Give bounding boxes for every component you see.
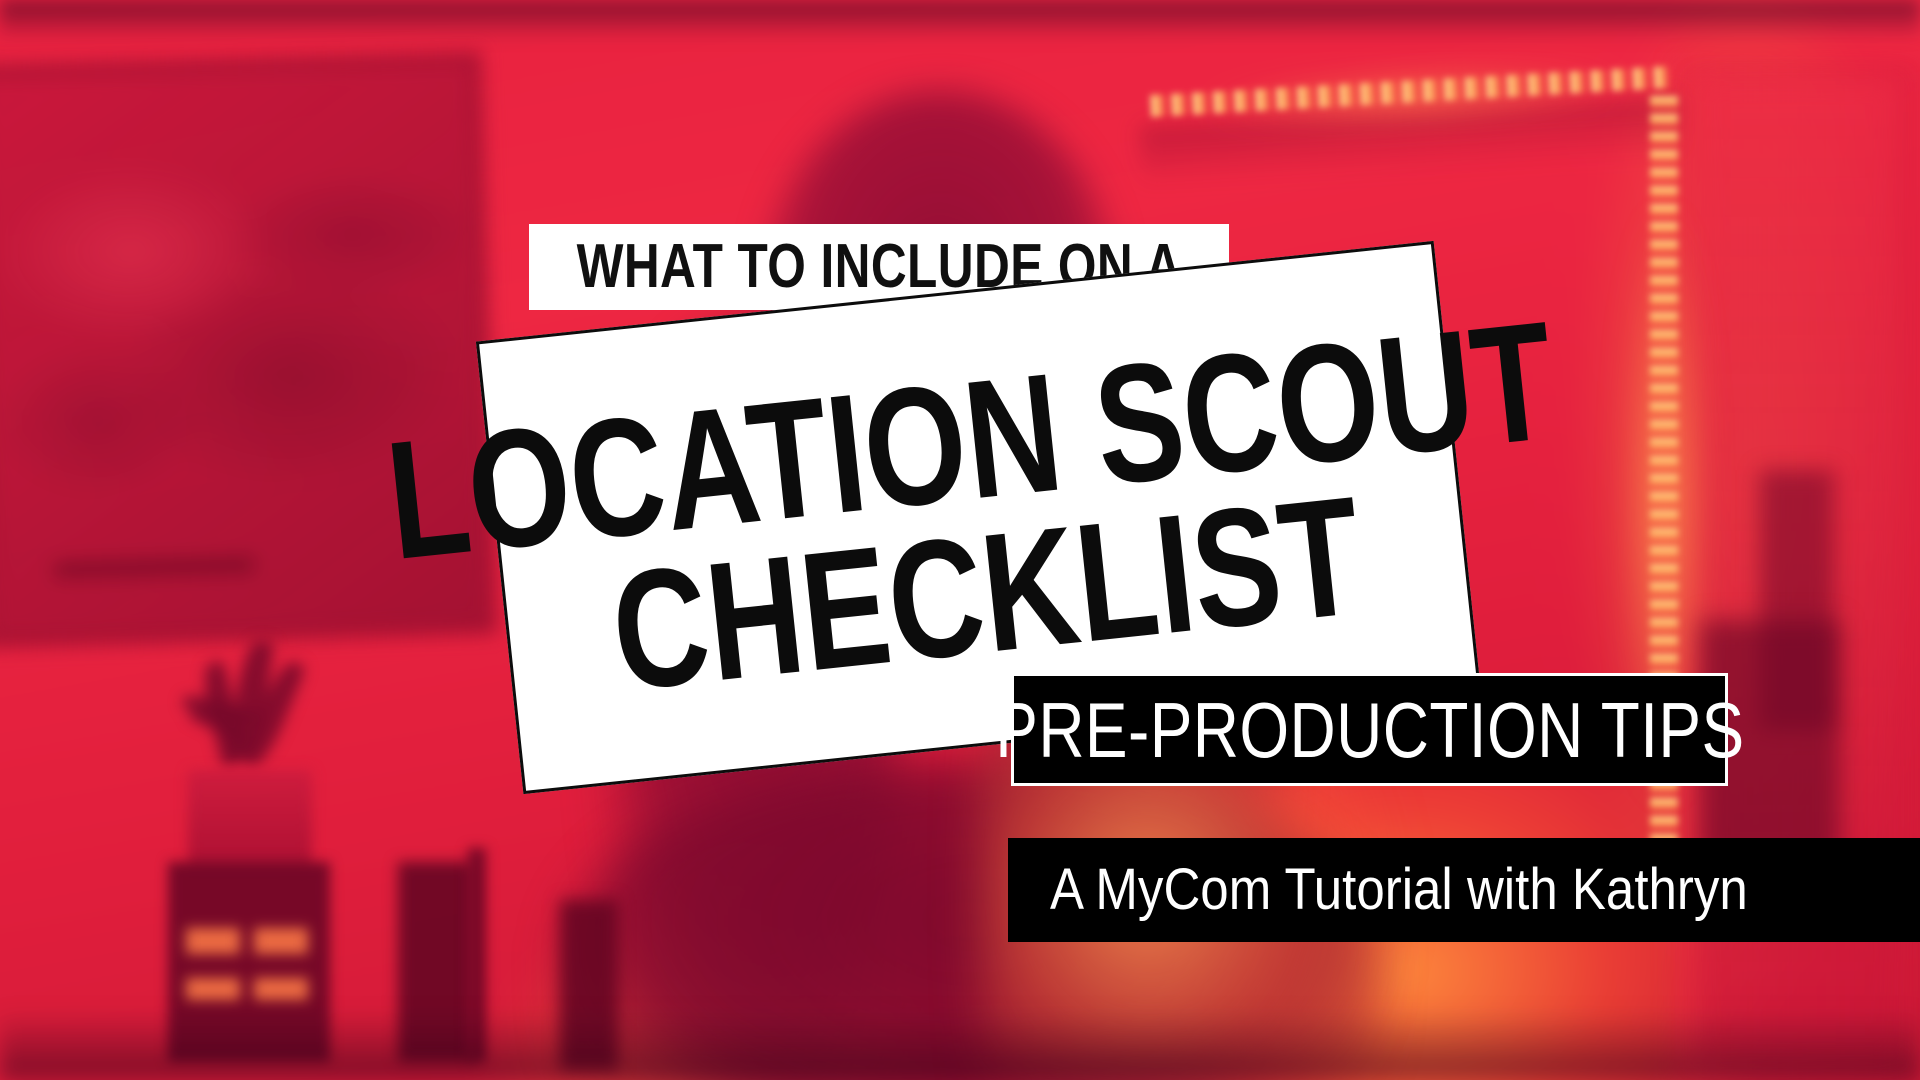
byline-text: A MyCom Tutorial with Kathryn — [1050, 861, 1748, 919]
thumbnail-canvas: WHAT TO INCLUDE ON A LOCATION SCOUT CHEC… — [0, 0, 1920, 1080]
top-vignette — [0, 0, 1920, 40]
bottom-vignette — [0, 1010, 1920, 1080]
led-strip-vertical — [1650, 96, 1678, 908]
byline-bar: A MyCom Tutorial with Kathryn — [1008, 838, 1920, 942]
subtitle-box: PRE-PRODUCTION TIPS — [1011, 673, 1728, 786]
plant-pot — [188, 770, 312, 870]
poster-caption-blur — [54, 558, 254, 578]
subtitle-text: PRE-PRODUCTION TIPS — [995, 691, 1744, 769]
plant-leaves — [182, 640, 342, 790]
